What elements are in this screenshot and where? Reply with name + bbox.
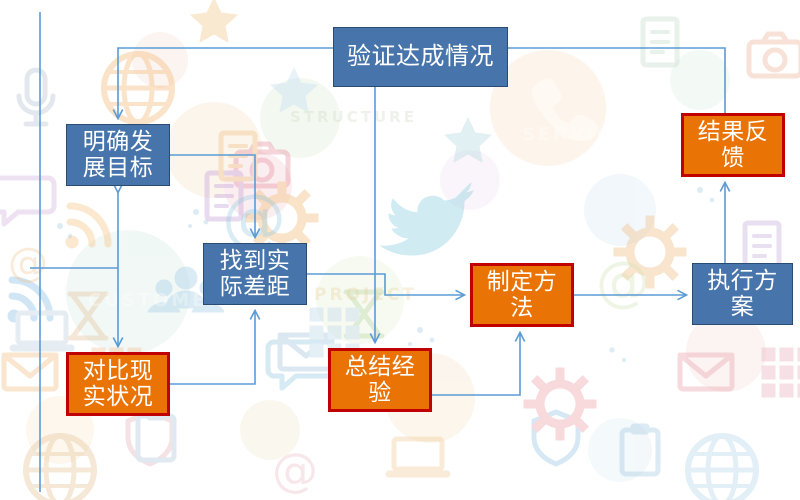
node-method[interactable]: 制定方 法 [470, 263, 574, 327]
edge-gap-method [307, 274, 464, 295]
edge-verify-goal [118, 48, 333, 118]
node-execute[interactable]: 执行方 案 [692, 263, 793, 325]
diagram-canvas: @ @ @ @ SERVICE CUSTOMER PROJECT STRUCTU… [0, 0, 800, 500]
edge-compare-gap [170, 311, 255, 384]
node-goal[interactable]: 明确发 展目标 [66, 124, 170, 186]
node-summary[interactable]: 总结经 验 [328, 348, 432, 412]
edge-summary-method [432, 333, 520, 395]
node-feedback[interactable]: 结果反 馈 [681, 113, 785, 177]
edge-goal-gap [170, 155, 255, 237]
node-verify[interactable]: 验证达成情况 [333, 27, 508, 87]
node-gap[interactable]: 找到实 际差距 [203, 243, 307, 305]
edge-verify-feedback [508, 48, 725, 113]
node-compare[interactable]: 对比现 实状况 [66, 352, 170, 416]
